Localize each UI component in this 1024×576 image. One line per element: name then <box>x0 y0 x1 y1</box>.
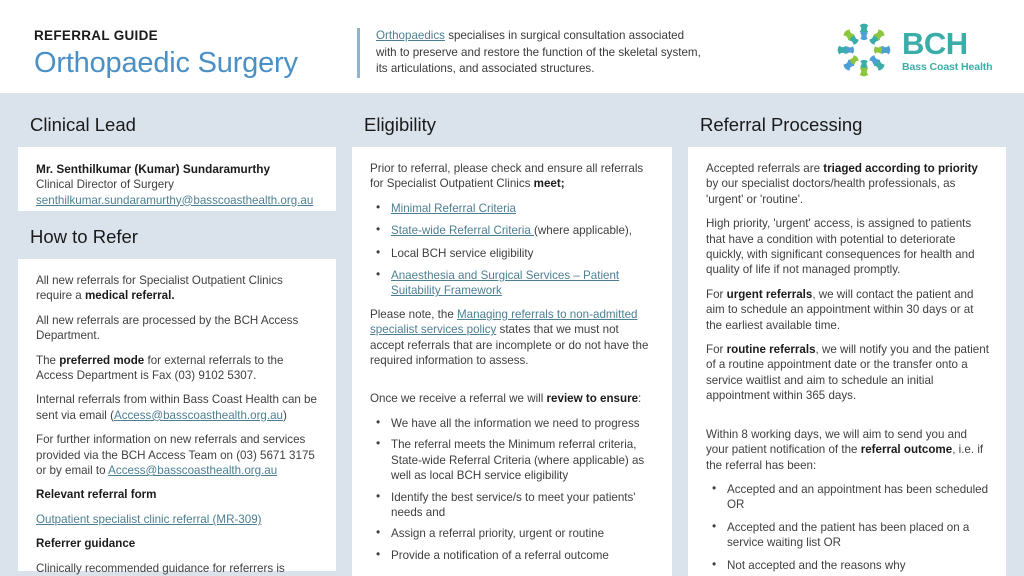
access-email-link-1[interactable]: Access@basscoasthealth.org.au <box>114 409 283 422</box>
eligibility-panel: Prior to referral, please check and ensu… <box>352 147 672 576</box>
header-description: Orthopaedics specialises in surgical con… <box>376 28 702 78</box>
orthopaedics-link[interactable]: Orthopaedics <box>376 29 445 42</box>
eligibility-intro: Prior to referral, please check and ensu… <box>370 161 656 192</box>
logo-subtitle: Bass Coast Health <box>902 61 993 73</box>
section-heading-eligibility: Eligibility <box>352 113 672 137</box>
list-item: Accepted and the patient has been placed… <box>706 520 990 551</box>
list-item: Minimal Referral Criteria <box>370 201 656 216</box>
processing-p1: Accepted referrals are triaged according… <box>706 161 990 207</box>
column-left: Clinical Lead Mr. Senthilkumar (Kumar) S… <box>18 93 336 571</box>
logo-text: BCH Bass Coast Health <box>902 28 993 73</box>
clinical-lead-email-link[interactable]: senthilkumar.sundaramurthy@basscoastheal… <box>36 194 313 207</box>
section-heading-how-to-refer: How to Refer <box>18 225 336 249</box>
spacer <box>370 377 656 391</box>
how-to-refer-panel: All new referrals for Specialist Outpati… <box>18 259 336 571</box>
referral-guide-page: REFERRAL GUIDE Orthopaedic Surgery Ortho… <box>0 0 1024 576</box>
minimal-referral-criteria-link[interactable]: Minimal Referral Criteria <box>391 202 516 215</box>
processing-p3: For urgent referrals, we will contact th… <box>706 287 990 333</box>
referral-outcomes-list: Accepted and an appointment has been sch… <box>706 482 990 573</box>
how-to-refer-p2: All new referrals are processed by the B… <box>36 313 320 344</box>
access-email-link-2[interactable]: Access@basscoasthealth.org.au <box>108 464 277 477</box>
referral-processing-panel: Accepted referrals are triaged according… <box>688 147 1006 576</box>
processing-p4: For routine referrals, we will notify yo… <box>706 342 990 404</box>
page-title: Orthopaedic Surgery <box>34 45 298 81</box>
eligibility-review-intro: Once we receive a referral we will revie… <box>370 391 656 406</box>
column-right: Referral Processing Accepted referrals a… <box>688 93 1006 576</box>
clinical-lead-panel: Mr. Senthilkumar (Kumar) Sundaramurthy C… <box>18 147 336 211</box>
list-item: State-wide Referral Criteria (where appl… <box>370 223 656 238</box>
eligibility-note: Please note, the Managing referrals to n… <box>370 307 656 369</box>
eligibility-criteria-list: Minimal Referral Criteria State-wide Ref… <box>370 201 656 299</box>
processing-p2: High priority, 'urgent' access, is assig… <box>706 216 990 278</box>
eligibility-review-list: We have all the information we need to p… <box>370 416 656 563</box>
list-item: Provide a notification of a referral out… <box>370 548 656 563</box>
list-item: Identify the best service/s to meet your… <box>370 490 656 521</box>
list-item: Not accepted and the reasons why <box>706 558 990 573</box>
state-wide-referral-criteria-link[interactable]: State-wide Referral Criteria <box>391 224 534 237</box>
header-description-block: Orthopaedics specialises in surgical con… <box>357 28 702 78</box>
referral-form-link[interactable]: Outpatient specialist clinic referral (M… <box>36 513 262 526</box>
section-heading-clinical-lead: Clinical Lead <box>18 113 336 137</box>
list-item: Local BCH service eligibility <box>370 246 656 261</box>
processing-p5: Within 8 working days, we will aim to se… <box>706 427 990 473</box>
how-to-refer-p3: The preferred mode for external referral… <box>36 353 320 384</box>
referrer-guidance-text: Clinically recommended guidance for refe… <box>36 561 320 576</box>
list-item: We have all the information we need to p… <box>370 416 656 431</box>
page-kicker: REFERRAL GUIDE <box>34 28 298 44</box>
how-to-refer-p5: For further information on new referrals… <box>36 432 320 478</box>
list-item: Anaesthesia and Surgical Services – Pati… <box>370 268 656 299</box>
bch-circle-people-logo-icon <box>833 19 895 81</box>
list-item: The referral meets the Minimum referral … <box>370 437 656 483</box>
section-heading-referral-processing: Referral Processing <box>688 113 1006 137</box>
list-item: Accepted and an appointment has been sch… <box>706 482 990 513</box>
referrer-guidance-heading: Referrer guidance <box>36 536 320 551</box>
list-item: Assign a referral priority, urgent or ro… <box>370 526 656 541</box>
header-title-block: REFERRAL GUIDE Orthopaedic Surgery <box>34 28 298 81</box>
how-to-refer-p4: Internal referrals from within Bass Coas… <box>36 392 320 423</box>
column-middle: Eligibility Prior to referral, please ch… <box>352 93 672 576</box>
logo-acronym: BCH <box>902 28 993 60</box>
bch-logo: BCH Bass Coast Health <box>833 19 993 81</box>
clinical-lead-role: Clinical Director of Surgery <box>36 177 320 193</box>
clinical-lead-name: Mr. Senthilkumar (Kumar) Sundaramurthy <box>36 161 320 177</box>
relevant-referral-form-row: Outpatient specialist clinic referral (M… <box>36 512 320 527</box>
relevant-referral-form-heading: Relevant referral form <box>36 487 320 502</box>
anaesthesia-framework-link[interactable]: Anaesthesia and Surgical Services – Pati… <box>391 269 619 297</box>
how-to-refer-p1: All new referrals for Specialist Outpati… <box>36 273 320 304</box>
spacer <box>706 413 990 427</box>
page-header: REFERRAL GUIDE Orthopaedic Surgery Ortho… <box>0 0 1024 93</box>
